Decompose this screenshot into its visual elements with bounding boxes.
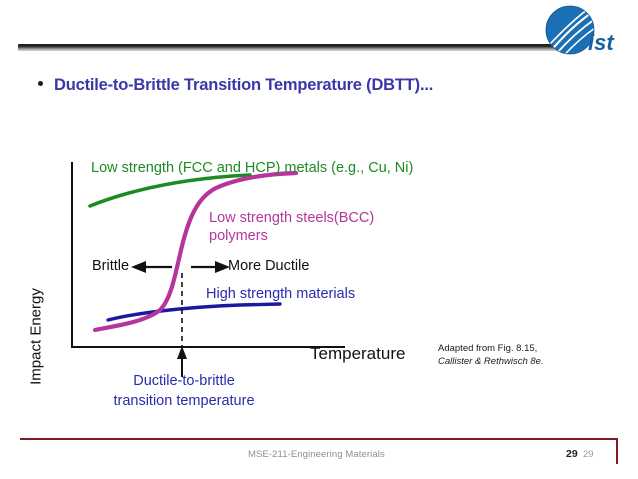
- series-low-strength-fcc-hcp: [90, 175, 250, 206]
- dbtt-figure: Impact Energy Low strength (FCC and HCP)…: [0, 140, 638, 425]
- footer-course-label: MSE-211-Engineering Materials: [248, 449, 385, 460]
- bullet-dot-icon: [38, 81, 43, 86]
- dbtt-chart-svg: [0, 140, 638, 425]
- label-low-strength-fcc-hcp: Low strength (FCC and HCP) metals (e.g.,…: [91, 160, 413, 177]
- label-brittle: Brittle: [92, 258, 129, 275]
- page-title: Ductile-to-Brittle Transition Temperatur…: [38, 76, 598, 95]
- svg-text:ist: ist: [588, 30, 615, 55]
- x-axis-label: Temperature: [310, 344, 405, 364]
- brittle-ductile-double-arrow-icon: [131, 261, 230, 273]
- label-dbtt-line1: Ductile-to-brittle: [104, 372, 264, 391]
- label-high-strength: High strength materials: [206, 286, 355, 303]
- attribution-line-1: Adapted from Fig. 8.15,: [438, 342, 544, 355]
- footer-divider-right: [616, 438, 618, 464]
- header-divider: [18, 44, 571, 51]
- page-title-text: Ductile-to-Brittle Transition Temperatur…: [54, 76, 433, 95]
- label-low-strength-bcc: Low strength steels(BCC): [209, 210, 374, 227]
- footer-divider: [20, 438, 618, 440]
- attribution-line-2: Callister & Rethwisch 8e.: [438, 355, 544, 368]
- label-more-ductile: More Ductile: [228, 258, 309, 275]
- footer-slide-number: 29: [583, 449, 594, 460]
- label-dbtt-line2: transition temperature: [84, 392, 284, 411]
- ist-logo: ist: [533, 4, 633, 62]
- series-high-strength: [108, 304, 280, 320]
- slide-canvas: ist Ductile-to-Brittle Transition Temper…: [0, 0, 638, 479]
- figure-attribution: Adapted from Fig. 8.15, Callister & Reth…: [438, 342, 544, 368]
- y-axis-label: Impact Energy: [28, 277, 45, 397]
- footer-page-number: 29: [566, 448, 578, 460]
- label-polymers: polymers: [209, 228, 268, 245]
